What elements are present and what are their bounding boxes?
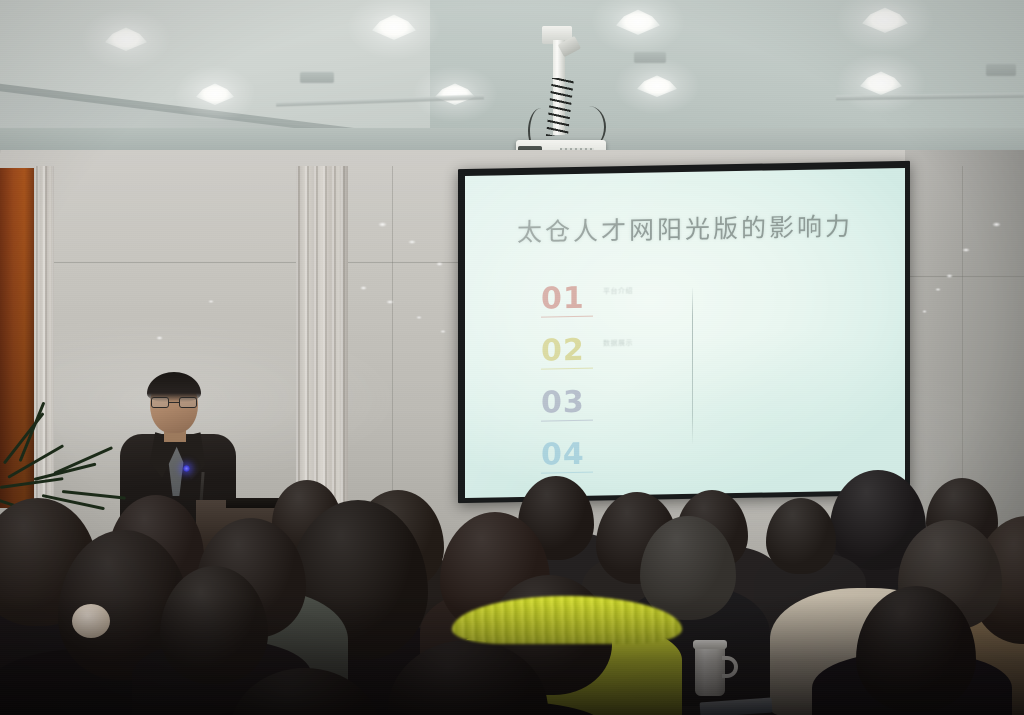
slide-item-underline [541,368,593,370]
wall-light-reflection [386,300,394,304]
plant-frond [34,463,97,481]
ceiling-vent [300,72,334,83]
slide-item-number: 03 [541,388,585,422]
conference-photo: 太仓人才网阳光版的影响力 01平台介绍02数据展示0304 [0,0,1024,715]
slide-vertical-divider [692,288,693,444]
wall-light-reflection [408,240,416,244]
ceiling-vent [634,52,666,63]
ceiling-light [860,70,902,96]
wall-light-reflection [436,262,443,266]
slide-item-number: 02 [541,336,585,370]
slide-agenda-item: 02数据展示 [541,333,731,370]
ceiling-light [862,6,908,34]
wall-seam-vertical-a [392,166,393,526]
slide-item-underline [541,472,593,474]
slide-item-underline [541,316,593,318]
ceiling-light [372,13,416,41]
plant-frond [53,446,113,475]
wall-light-reflection [946,274,953,278]
plant-frond [0,477,64,489]
wall-light-reflection [360,286,367,290]
wall-light-reflection [922,310,927,313]
ceramic-mug[interactable] [695,644,725,696]
wall-seam-horizontal-left [0,262,460,263]
wall-light-reflection [935,288,941,291]
projection-screen[interactable]: 太仓人才网阳光版的影响力 01平台介绍02数据展示0304 [458,161,910,503]
slide-item-label: 平台介绍 [603,286,633,297]
wall-light-reflection [208,300,214,303]
slide-agenda-item: 04 [541,437,731,474]
slide-agenda-item: 01平台介绍 [541,281,731,318]
projection-screen-surface: 太仓人才网阳光版的影响力 01平台介绍02数据展示0304 [465,168,905,498]
slide-agenda-list: 01平台介绍02数据展示0304 [541,281,731,492]
slide-item-label: 数据展示 [603,338,633,349]
wall-light-reflection [416,316,422,319]
ceiling-vent [986,64,1016,76]
slide-title: 太仓人才网阳光版的影响力 [465,206,905,250]
wall-light-reflection [992,222,1001,227]
wall-light-reflection [962,248,970,252]
wall-light-reflection [156,336,163,340]
glasses-icon [151,397,197,408]
hair-accessory [72,604,110,638]
ceiling-light [637,74,677,98]
slide-agenda-item: 03 [541,385,731,422]
slide-item-number: 01 [541,284,585,318]
presenter-badge-light [183,465,190,472]
wall-seam-horizontal-right [905,276,1024,277]
slide-item-number: 04 [541,440,585,474]
mug-lid [693,640,727,649]
pilaster-right-flutes [296,166,348,516]
ceiling-light [196,82,234,106]
wall-light-reflection [378,222,387,227]
ceiling-light [105,26,147,52]
wall-light-reflection [440,330,446,333]
ceiling-light [616,8,660,36]
slide-item-underline [541,420,593,422]
